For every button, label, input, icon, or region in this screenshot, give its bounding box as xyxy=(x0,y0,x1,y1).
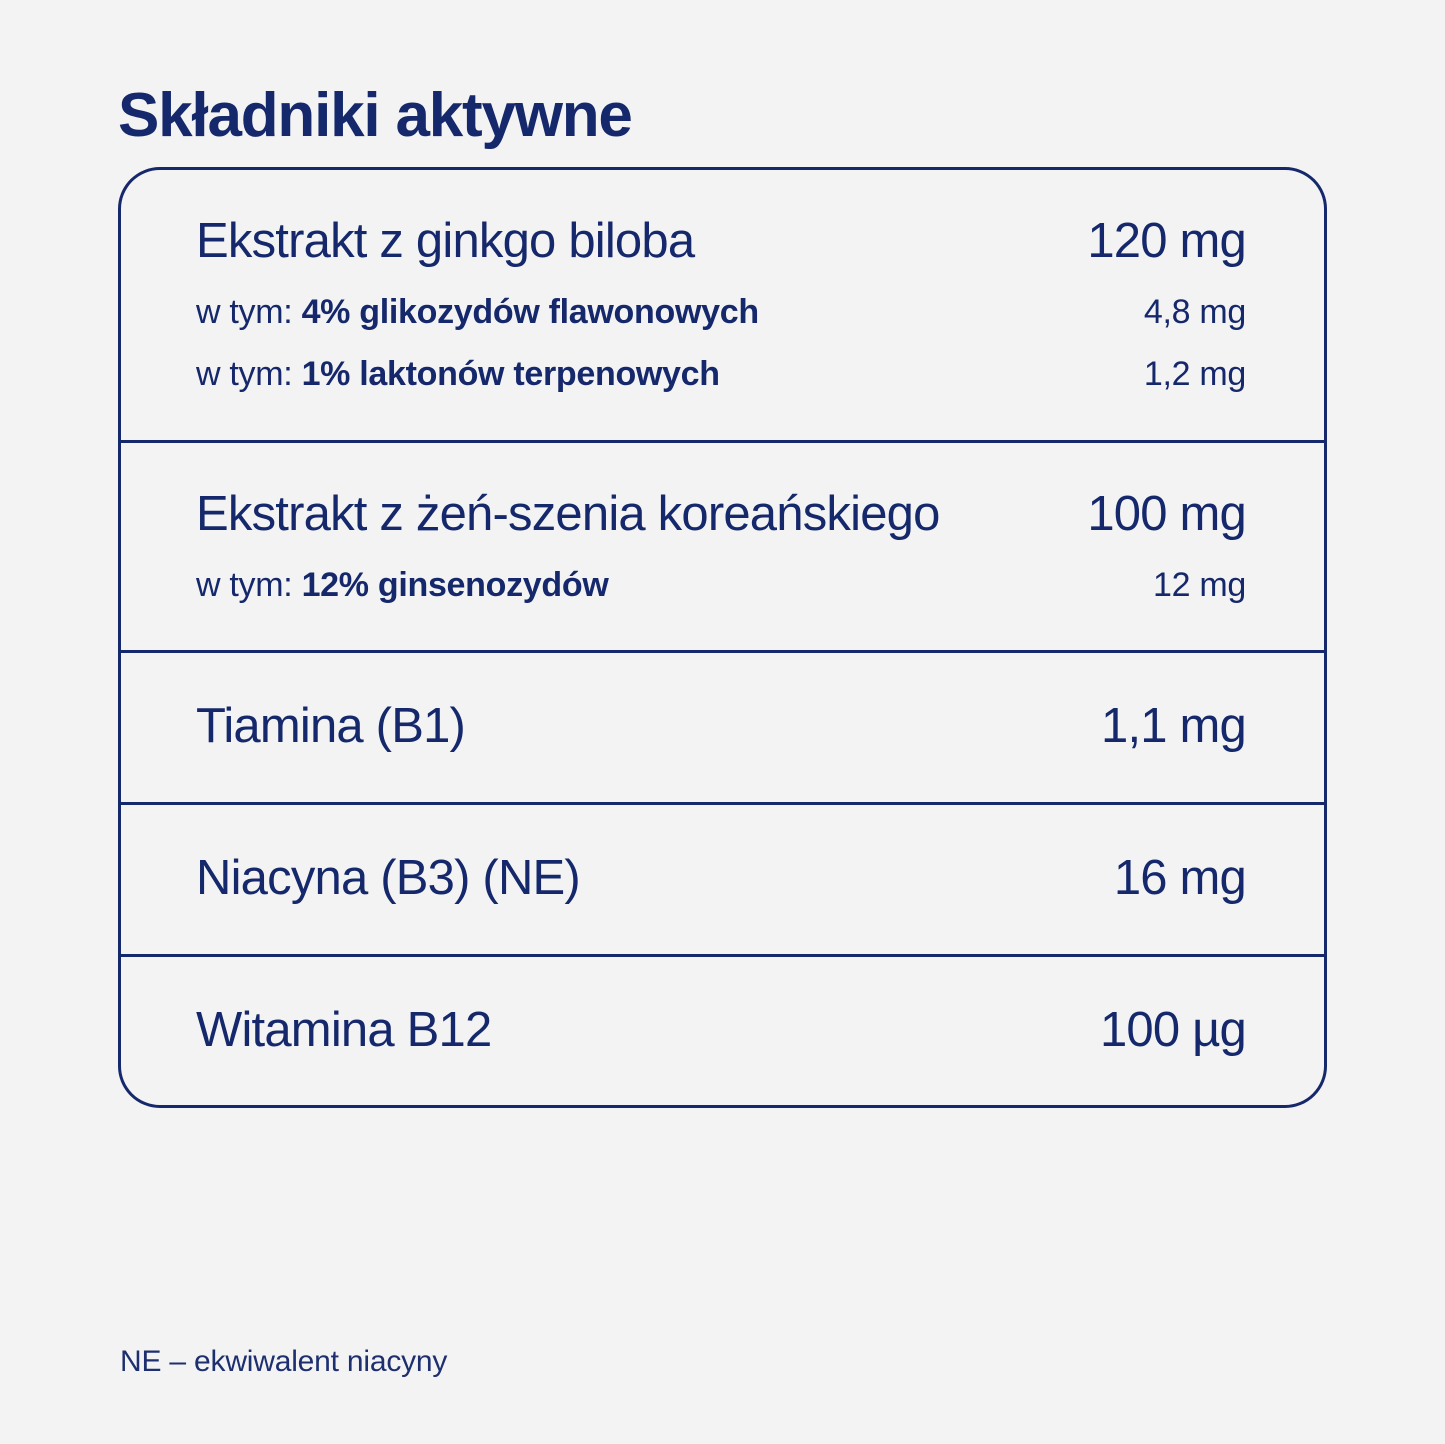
ingredient-subrow-prefix: w tym: xyxy=(196,355,302,393)
ingredient-group: Tiamina (B1)1,1 mg xyxy=(121,653,1324,805)
ingredient-subrow-name: w tym: 4% glikozydów flawonowych xyxy=(196,291,759,334)
ingredient-group: Witamina B12100 µg xyxy=(121,957,1324,1106)
ingredient-subrow-name: w tym: 1% laktonów terpenowych xyxy=(196,353,720,396)
ingredient-name: Witamina B12 xyxy=(196,1001,491,1060)
ingredient-subrow-amount: 4,8 mg xyxy=(1144,291,1246,334)
ingredients-panel: Składniki aktywne Ekstrakt z ginkgo bilo… xyxy=(0,0,1445,1444)
footnote: NE – ekwiwalent niacyny xyxy=(120,1345,447,1379)
ingredient-name: Ekstrakt z żeń-szenia koreańskiego xyxy=(196,485,940,544)
ingredient-subrow-emphasis: 12% ginsenozydów xyxy=(302,566,609,604)
ingredient-row: Ekstrakt z żeń-szenia koreańskiego100 mg xyxy=(121,443,1324,544)
ingredient-row: Niacyna (B3) (NE)16 mg xyxy=(121,805,1324,954)
ingredient-subrow-amount: 12 mg xyxy=(1153,564,1246,607)
page-title: Składniki aktywne xyxy=(118,80,632,151)
ingredient-subrow-prefix: w tym: xyxy=(196,566,302,604)
ingredient-name: Ekstrakt z ginkgo biloba xyxy=(196,212,694,271)
ingredient-group: Ekstrakt z żeń-szenia koreańskiego100 mg… xyxy=(121,443,1324,653)
group-spacer xyxy=(121,606,1324,650)
ingredient-amount: 16 mg xyxy=(1114,849,1246,908)
ingredients-table: Ekstrakt z ginkgo biloba120 mgw tym: 4% … xyxy=(118,167,1327,1108)
ingredient-subrow: w tym: 1% laktonów terpenowych1,2 mg xyxy=(121,353,1324,396)
ingredient-amount: 100 mg xyxy=(1087,485,1246,544)
ingredient-name: Niacyna (B3) (NE) xyxy=(196,849,580,908)
ingredient-subrow-prefix: w tym: xyxy=(196,293,302,331)
ingredient-amount: 1,1 mg xyxy=(1101,697,1246,756)
ingredient-amount: 100 µg xyxy=(1100,1001,1246,1060)
ingredient-group: Niacyna (B3) (NE)16 mg xyxy=(121,805,1324,957)
ingredient-row: Witamina B12100 µg xyxy=(121,957,1324,1106)
ingredient-subrow-amount: 1,2 mg xyxy=(1144,353,1246,396)
ingredient-subrow-name: w tym: 12% ginsenozydów xyxy=(196,564,609,607)
ingredient-row: Ekstrakt z ginkgo biloba120 mg xyxy=(121,170,1324,271)
ingredient-amount: 120 mg xyxy=(1087,212,1246,271)
ingredient-subrow-emphasis: 1% laktonów terpenowych xyxy=(302,355,720,393)
ingredient-row: Tiamina (B1)1,1 mg xyxy=(121,653,1324,802)
ingredient-subrow-emphasis: 4% glikozydów flawonowych xyxy=(302,293,759,331)
ingredient-group: Ekstrakt z ginkgo biloba120 mgw tym: 4% … xyxy=(121,170,1324,443)
ingredient-name: Tiamina (B1) xyxy=(196,697,465,756)
group-spacer xyxy=(121,396,1324,440)
ingredient-subrow: w tym: 4% glikozydów flawonowych4,8 mg xyxy=(121,291,1324,334)
ingredient-subrow: w tym: 12% ginsenozydów12 mg xyxy=(121,564,1324,607)
